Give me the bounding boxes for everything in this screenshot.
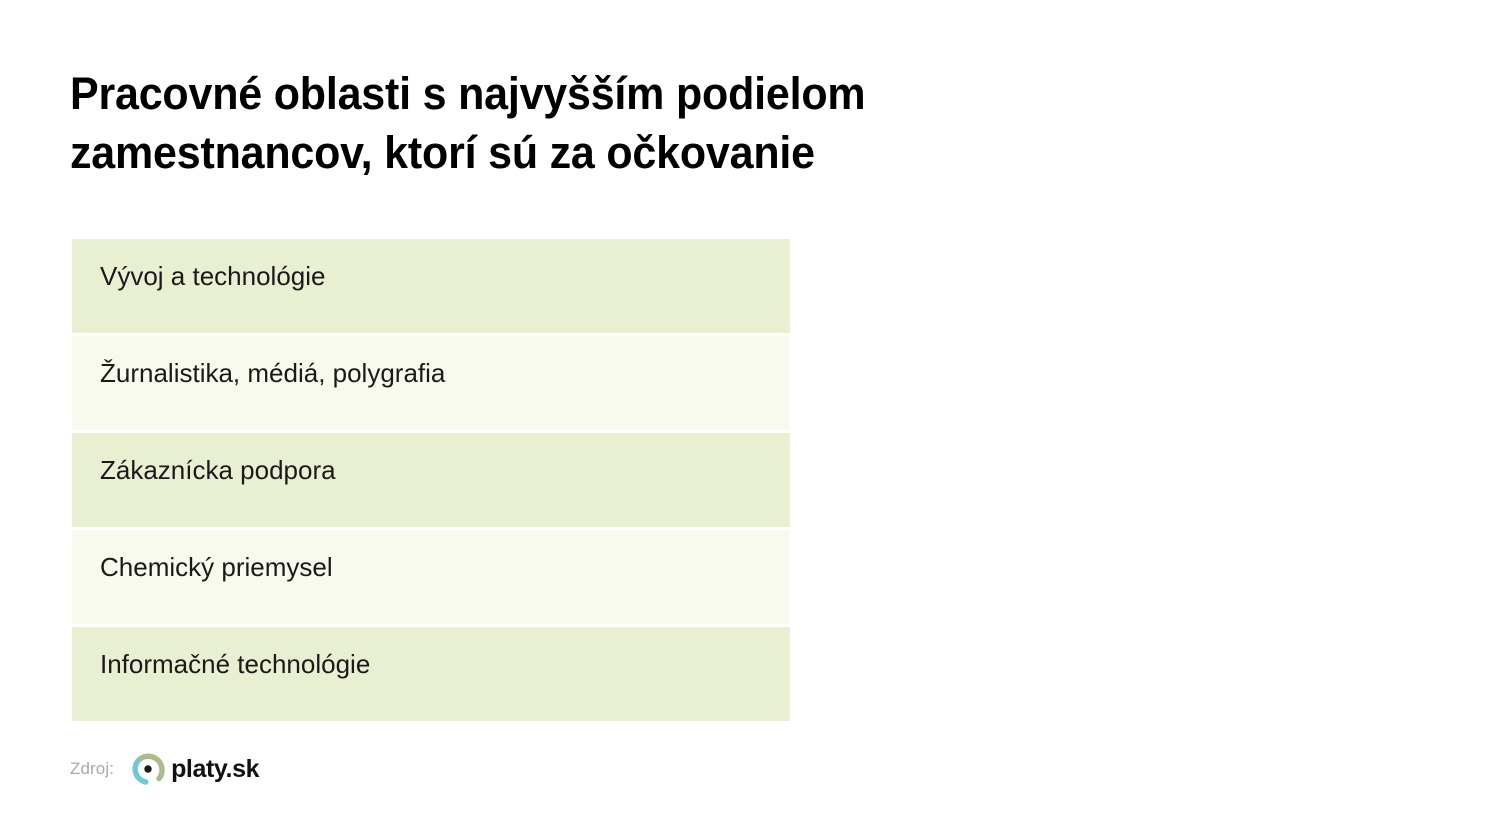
list-item[interactable]: Informačné technológie bbox=[72, 627, 790, 721]
list-item-label: Vývoj a technológie bbox=[100, 260, 790, 292]
title-block: Pracovné oblasti s najvyšším podielom za… bbox=[70, 64, 1190, 183]
platy-ring-logo-icon bbox=[128, 749, 168, 789]
list-item[interactable]: Chemický priemysel bbox=[72, 530, 790, 624]
list-item[interactable]: Zákaznícka podpora bbox=[72, 433, 790, 527]
page-title: Pracovné oblasti s najvyšším podielom za… bbox=[70, 64, 1140, 183]
list-item[interactable]: Žurnalistika, médiá, polygrafia bbox=[72, 336, 790, 430]
job-field-list: Vývoj a technológie Žurnalistika, médiá,… bbox=[72, 239, 790, 721]
list-item-label: Žurnalistika, médiá, polygrafia bbox=[100, 357, 790, 389]
infographic-slide: Pracovné oblasti s najvyšším podielom za… bbox=[0, 0, 1500, 833]
source-footer: Zdroj: platy.sk bbox=[70, 752, 259, 786]
brand-lockup[interactable]: platy.sk bbox=[128, 749, 259, 789]
list-item[interactable]: Vývoj a technológie bbox=[72, 239, 790, 333]
list-item-label: Chemický priemysel bbox=[100, 551, 790, 583]
brand-name: platy.sk bbox=[171, 757, 259, 782]
source-label: Zdroj: bbox=[70, 759, 114, 779]
list-item-label: Informačné technológie bbox=[100, 648, 790, 680]
list-item-label: Zákaznícka podpora bbox=[100, 454, 790, 486]
